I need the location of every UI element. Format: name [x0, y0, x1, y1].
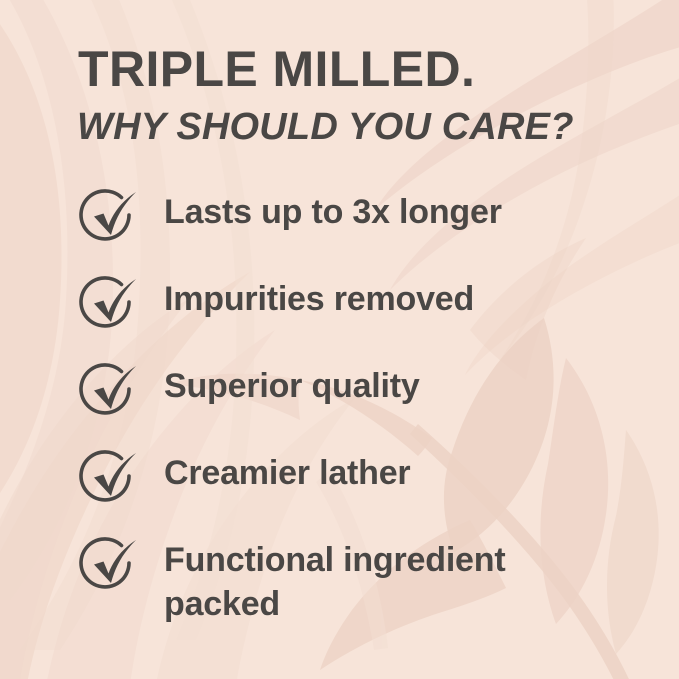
list-item: Functional ingredient packed: [0, 536, 679, 623]
list-item: Impurities removed: [0, 275, 679, 362]
benefit-list: Lasts up to 3x longer Impurities removed: [0, 188, 679, 623]
check-circle-icon: [74, 362, 140, 424]
check-circle-icon: [74, 275, 140, 337]
list-item: Lasts up to 3x longer: [0, 188, 679, 275]
benefit-label: Functional ingredient packed: [164, 539, 604, 626]
check-circle-icon: [74, 449, 140, 511]
check-circle-icon: [74, 188, 140, 250]
list-item: Superior quality: [0, 362, 679, 449]
benefit-label: Impurities removed: [164, 278, 604, 322]
page-subtitle: WHY SHOULD YOU CARE?: [77, 108, 574, 146]
benefit-label: Superior quality: [164, 365, 604, 409]
benefit-label: Creamier lather: [164, 452, 604, 496]
triple-milled-benefits-poster: TRIPLE MILLED. WHY SHOULD YOU CARE? Last…: [0, 0, 679, 679]
benefit-label: Lasts up to 3x longer: [164, 191, 604, 235]
list-item: Creamier lather: [0, 449, 679, 536]
poster-content: TRIPLE MILLED. WHY SHOULD YOU CARE? Last…: [0, 0, 679, 679]
page-title: TRIPLE MILLED.: [78, 44, 475, 94]
check-circle-icon: [74, 536, 140, 598]
